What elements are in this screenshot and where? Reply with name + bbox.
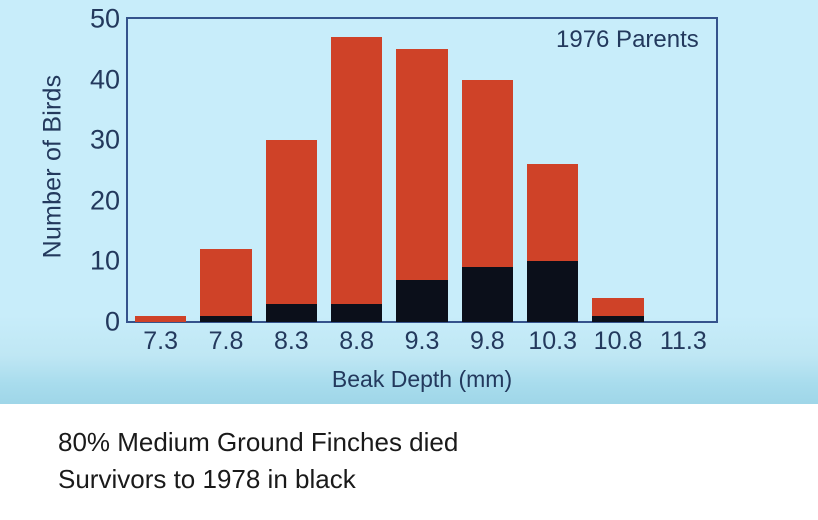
x-tick-label: 9.8 <box>470 328 505 356</box>
bar-slot <box>266 19 318 322</box>
figure-panel: Number of Birds 01020304050 7.37.88.38.8… <box>0 0 818 404</box>
x-tick-label: 11.3 <box>660 328 707 356</box>
y-tick-label: 10 <box>76 248 120 275</box>
bar-slot <box>462 19 514 322</box>
bar-slot <box>135 19 187 322</box>
y-tick-label: 30 <box>76 127 120 154</box>
y-tick-label: 40 <box>76 66 120 93</box>
bars-layer <box>128 19 716 322</box>
bar-stack <box>396 49 448 322</box>
y-axis-title: Number of Birds <box>39 52 68 282</box>
bar-stack <box>592 298 644 322</box>
x-axis-tick-labels: 7.37.88.38.89.39.810.310.811.3 <box>128 328 716 362</box>
x-tick-label: 10.3 <box>528 328 577 356</box>
y-tick-label: 20 <box>76 187 120 214</box>
x-tick-label: 8.8 <box>339 328 374 356</box>
bar-segment-died <box>331 37 383 322</box>
bar-segment-survivors <box>266 304 318 322</box>
bar-stack <box>331 37 383 322</box>
bar-slot <box>592 19 644 322</box>
x-tick-label: 8.3 <box>274 328 309 356</box>
bar-segment-survivors <box>592 316 644 322</box>
bar-segment-died <box>266 140 318 322</box>
bar-segment-survivors <box>200 316 252 322</box>
bar-segment-survivors <box>527 261 579 322</box>
bar-stack <box>200 249 252 322</box>
bar-slot <box>200 19 252 322</box>
bar-segment-survivors <box>331 304 383 322</box>
bar-slot <box>527 19 579 322</box>
x-tick-label: 9.3 <box>405 328 440 356</box>
caption-block: 80% Medium Ground Finches died Survivors… <box>0 404 818 520</box>
bar-stack <box>462 80 514 322</box>
bar-stack <box>527 164 579 322</box>
x-tick-label: 7.8 <box>209 328 244 356</box>
bar-segment-survivors <box>462 267 514 322</box>
x-tick-label: 10.8 <box>594 328 643 356</box>
bar-stack <box>135 316 187 322</box>
y-axis-tick-labels: 01020304050 <box>70 0 120 404</box>
bar-segment-survivors <box>396 280 448 322</box>
bar-stack <box>266 140 318 322</box>
x-tick-label: 7.3 <box>143 328 178 356</box>
plot-annotation-label: 1976 Parents <box>556 26 699 54</box>
y-tick-label: 0 <box>76 309 120 336</box>
bar-segment-died <box>135 316 187 322</box>
bar-segment-died <box>200 249 252 322</box>
bar-slot <box>396 19 448 322</box>
bar-slot <box>331 19 383 322</box>
x-axis-title: Beak Depth (mm) <box>128 366 716 393</box>
caption-line-2: Survivors to 1978 in black <box>58 461 818 498</box>
y-tick-label: 50 <box>76 6 120 33</box>
bar-slot <box>658 19 710 322</box>
caption-line-1: 80% Medium Ground Finches died <box>58 424 818 461</box>
